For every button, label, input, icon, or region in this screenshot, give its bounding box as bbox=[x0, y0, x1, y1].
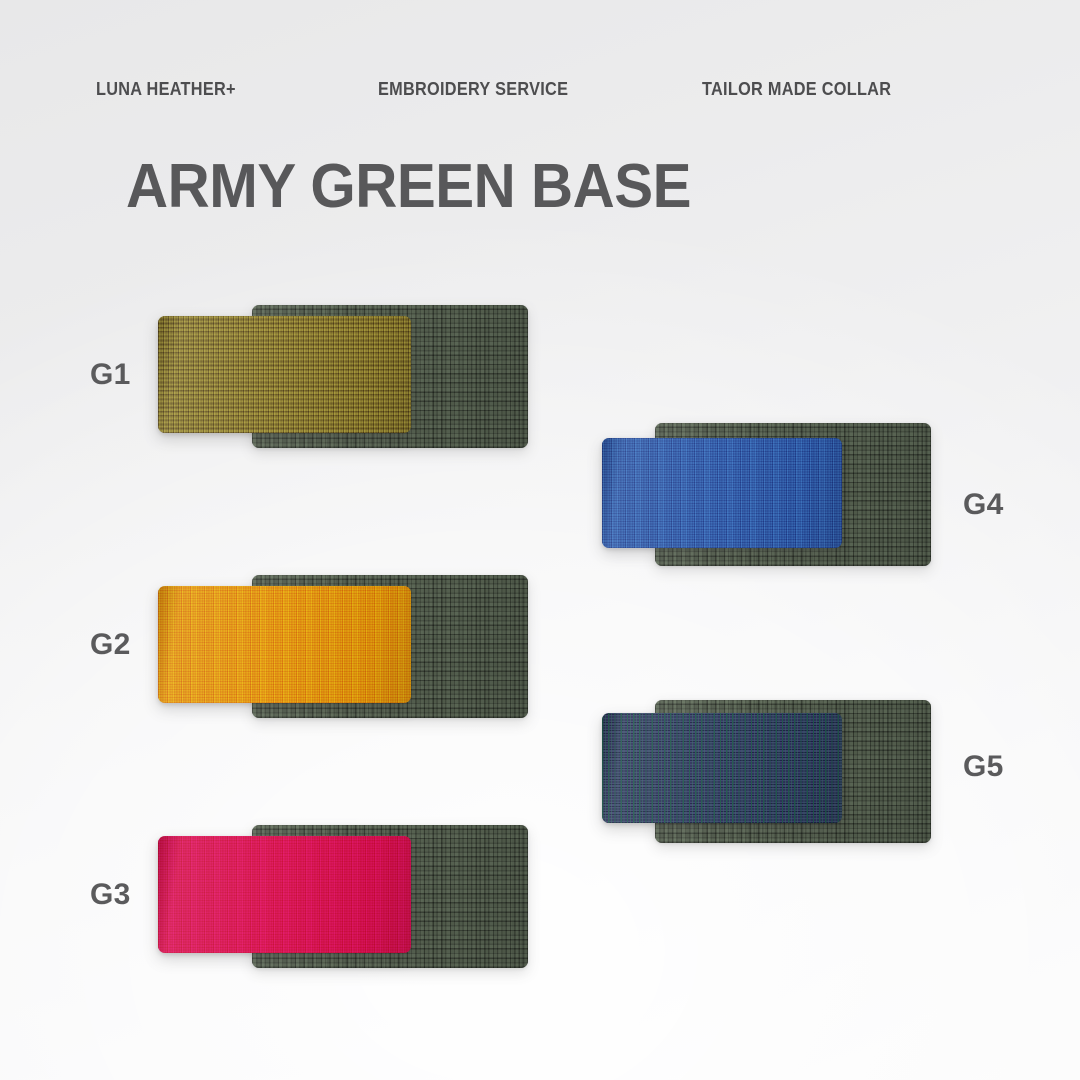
swatch-label-g4: G4 bbox=[963, 490, 1004, 520]
strap-color-g5 bbox=[602, 713, 842, 823]
page-title: ARMY GREEN BASE bbox=[126, 156, 691, 218]
strap-color-g4 bbox=[602, 438, 842, 548]
swatch-label-g1: G1 bbox=[90, 360, 131, 390]
swatch-label-g2: G2 bbox=[90, 630, 131, 660]
swatch-label-g3: G3 bbox=[90, 880, 131, 910]
eyebrow-product: TAILOR MADE COLLAR bbox=[702, 80, 950, 99]
strap-color-g2 bbox=[158, 586, 411, 703]
swatch-label-g5: G5 bbox=[963, 752, 1004, 782]
eyebrow-brand: LUNA HEATHER+ bbox=[96, 80, 344, 99]
eyebrow-service: EMBROIDERY SERVICE bbox=[378, 80, 663, 99]
strap-color-g3 bbox=[158, 836, 411, 953]
strap-color-g1 bbox=[158, 316, 411, 433]
header-eyebrow-row: LUNA HEATHER+ EMBROIDERY SERVICE TAILOR … bbox=[0, 80, 1080, 99]
